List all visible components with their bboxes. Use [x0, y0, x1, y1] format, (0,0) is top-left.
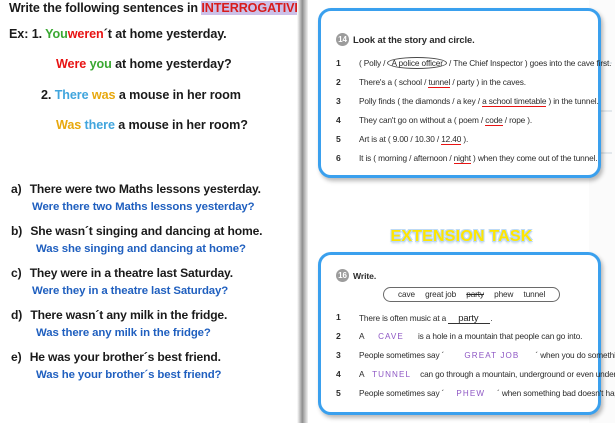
- item-text: They can't go on without a ( poem / code…: [359, 115, 532, 125]
- question-b: b) She wasn´t singing and dancing at hom…: [11, 224, 262, 238]
- example-1-answer: Were you at home yesterday?: [56, 57, 232, 71]
- question-c-answer: Were they in a theatre last Saturday?: [32, 285, 228, 297]
- item-answer: party: [456, 312, 480, 324]
- page-title-prefix: Write the following sentences in: [9, 1, 201, 15]
- example-1-prompt: Ex: 1. Youweren´t at home yesterday.: [9, 27, 227, 41]
- example-1-answer-verb: Were: [56, 57, 86, 71]
- item-number: 4: [336, 115, 341, 125]
- word-bank-item-great-job: great job: [425, 290, 456, 299]
- exercise-16-item-2: 2 A CAVEis a hole in a mountain that peo…: [336, 331, 582, 341]
- example-2-answer-verb: Was: [56, 118, 81, 132]
- item-post: ) in the tunnel.: [546, 96, 598, 106]
- item-text: There is often music at a party .: [359, 312, 493, 324]
- item-post: is a hole in a mountain that people can …: [418, 331, 582, 341]
- question-d-marker: d): [11, 308, 22, 322]
- item-answer: TUNNEL: [372, 370, 411, 379]
- question-e-answer: Was he your brother´s best friend?: [36, 369, 221, 381]
- page-title-highlight: INTERROGATIVE.: [201, 1, 306, 15]
- item-underlined-answer: night: [454, 153, 471, 164]
- item-pre: Art is at ( 9.00 / 10.30 /: [359, 134, 441, 144]
- extension-task-title: EXTENSION TASK: [308, 228, 615, 246]
- exercise-16-item-4: 4 A TUNNELcan go through a mountain, und…: [336, 369, 615, 379]
- item-post: .: [490, 313, 492, 323]
- item-number: 2: [336, 77, 341, 87]
- item-underlined-answer: code: [485, 115, 502, 126]
- item-post: ) when they come out of the tunnel.: [471, 153, 598, 163]
- item-answer: CAVE: [378, 332, 404, 341]
- item-number: 3: [336, 350, 341, 360]
- question-d-prompt: There wasn´t any milk in the fridge.: [30, 308, 227, 322]
- exercise-16-number-badge: 16: [336, 269, 349, 282]
- item-pre: People sometimes say ´: [359, 388, 444, 398]
- question-d: d) There wasn´t any milk in the fridge.: [11, 308, 227, 322]
- question-b-answer: Was she singing and dancing at home?: [36, 243, 246, 255]
- item-post: ´ when you do something well.: [535, 350, 615, 360]
- item-text: People sometimes say ´ GREAT JOB´ when y…: [359, 350, 615, 360]
- item-text: A CAVEis a hole in a mountain that peopl…: [359, 331, 582, 341]
- item-text: ( Polly / A police officer / The Chief I…: [359, 58, 611, 68]
- item-pre: A: [359, 331, 364, 341]
- example-2-answer: Was there a mouse in her room?: [56, 118, 248, 132]
- item-number: 6: [336, 153, 341, 163]
- item-text: Art is at ( 9.00 / 10.30 / 12.40 ).: [359, 134, 468, 144]
- question-a: a) There were two Maths lessons yesterda…: [11, 182, 261, 196]
- question-a-prompt: There were two Maths lessons yesterday.: [30, 182, 261, 196]
- item-pre: People sometimes say ´: [359, 350, 444, 360]
- word-bank: cave great job party phew tunnel: [383, 287, 560, 302]
- word-bank-item-party: party: [466, 290, 484, 299]
- item-number: 1: [336, 312, 341, 322]
- exercise-14-heading-text: Look at the story and circle.: [353, 34, 475, 45]
- question-a-marker: a): [11, 182, 21, 196]
- item-answer: GREAT JOB: [464, 351, 519, 360]
- exercise-14-item-4: 4 They can't go on without a ( poem / co…: [336, 115, 532, 125]
- exercise-14-card: 14Look at the story and circle. 1 ( Poll…: [318, 8, 601, 178]
- item-underlined-answer: tunnel: [428, 77, 450, 88]
- example-2-subject: There: [55, 88, 89, 102]
- item-pre: There's a ( school /: [359, 77, 428, 87]
- example-1-answer-rest: at home yesterday?: [115, 57, 232, 71]
- question-b-prompt: She wasn´t singing and dancing at home.: [30, 224, 262, 238]
- item-post: / rope ).: [503, 115, 532, 125]
- left-worksheet-panel: Write the following sentences in INTERRO…: [0, 0, 297, 423]
- exercise-14-item-5: 5 Art is at ( 9.00 / 10.30 / 12.40 ).: [336, 134, 468, 144]
- example-1-verb: weren: [68, 27, 104, 41]
- item-post: / party ) in the caves.: [450, 77, 526, 87]
- exercise-16-item-1: 1 There is often music at a party .: [336, 312, 493, 324]
- example-2-answer-subject: there: [85, 118, 115, 132]
- item-pre: They can't go on without a ( poem /: [359, 115, 485, 125]
- item-post: ).: [461, 134, 468, 144]
- example-label: Ex: 1.: [9, 27, 42, 41]
- exercise-14-number-badge: 14: [336, 33, 349, 46]
- exercise-16-item-3: 3 People sometimes say ´ GREAT JOB´ when…: [336, 350, 615, 360]
- item-pre: ( Polly /: [359, 58, 387, 68]
- page-title: Write the following sentences in INTERRO…: [9, 1, 306, 15]
- example-2-verb: was: [92, 88, 116, 102]
- item-pre: Polly finds ( the diamonds / a key /: [359, 96, 482, 106]
- example-1-answer-subject: you: [90, 57, 112, 71]
- panel-divider: [297, 0, 308, 423]
- item-answer: PHEW: [456, 389, 485, 398]
- item-post: ´ when something bad doesn't happen.: [497, 388, 615, 398]
- question-c-marker: c): [11, 266, 21, 280]
- item-pre: It is ( morning / afternoon /: [359, 153, 454, 163]
- word-bank-item-tunnel: tunnel: [524, 290, 546, 299]
- item-post: / The Chief Inspector ) goes into the ca…: [447, 58, 611, 68]
- item-post: can go through a mountain, underground o…: [420, 369, 615, 379]
- question-a-answer: Were there two Maths lessons yesterday?: [32, 201, 255, 213]
- item-number: 2: [336, 331, 341, 341]
- item-text: It is ( morning / afternoon / night ) wh…: [359, 153, 597, 163]
- exercise-14-item-2: 2 There's a ( school / tunnel / party ) …: [336, 77, 526, 87]
- exercise-16-heading-text: Write.: [353, 271, 376, 281]
- question-c-prompt: They were in a theatre last Saturday.: [30, 266, 233, 280]
- exercise-14-item-1: 1 ( Polly / A police officer / The Chief…: [336, 58, 611, 68]
- question-b-marker: b): [11, 224, 22, 238]
- item-number: 1: [336, 58, 341, 68]
- question-e-prompt: He was your brother´s best friend.: [30, 350, 221, 364]
- question-d-answer: Was there any milk in the fridge?: [36, 327, 211, 339]
- exercise-14-item-3: 3 Polly finds ( the diamonds / a key / a…: [336, 96, 599, 106]
- question-e: e) He was your brother´s best friend.: [11, 350, 221, 364]
- item-underlined-answer: a school timetable: [482, 96, 546, 107]
- example-1-subject: You: [45, 27, 68, 41]
- item-text: Polly finds ( the diamonds / a key / a s…: [359, 96, 599, 106]
- example-1-rest: ´t at home yesterday.: [104, 27, 227, 41]
- item-text: There's a ( school / tunnel / party ) in…: [359, 77, 526, 87]
- item-circled-answer: A police officer: [387, 57, 446, 69]
- item-number: 4: [336, 369, 341, 379]
- example-2-answer-rest: a mouse in her room?: [118, 118, 248, 132]
- example-2-label: 2.: [41, 88, 51, 102]
- exercise-16-heading: 16Write.: [336, 269, 376, 282]
- item-text: A TUNNELcan go through a mountain, under…: [359, 369, 615, 379]
- item-text: People sometimes say ´ PHEW´ when someth…: [359, 388, 615, 398]
- question-c: c) They were in a theatre last Saturday.: [11, 266, 233, 280]
- item-pre: There is often music at a: [359, 313, 446, 323]
- worksheet-page: Write the following sentences in INTERRO…: [0, 0, 615, 423]
- exercise-16-item-5: 5 People sometimes say ´ PHEW´ when some…: [336, 388, 615, 398]
- right-book-panel: t 3 5 14Look at the story and circle. 1 …: [308, 0, 615, 423]
- item-pre: A: [359, 369, 364, 379]
- item-number: 3: [336, 96, 341, 106]
- item-number: 5: [336, 134, 341, 144]
- example-2-prompt: 2. There was a mouse in her room: [41, 88, 241, 102]
- word-bank-item-phew: phew: [494, 290, 513, 299]
- word-bank-item-cave: cave: [398, 290, 415, 299]
- exercise-14-item-6: 6 It is ( morning / afternoon / night ) …: [336, 153, 597, 163]
- question-e-marker: e): [11, 350, 21, 364]
- exercise-16-card: 16Write. cave great job party phew tunne…: [318, 252, 601, 415]
- item-number: 5: [336, 388, 341, 398]
- item-underlined-answer: 12.40: [441, 134, 461, 145]
- example-2-rest: a mouse in her room: [119, 88, 241, 102]
- exercise-14-heading: 14Look at the story and circle.: [336, 33, 475, 46]
